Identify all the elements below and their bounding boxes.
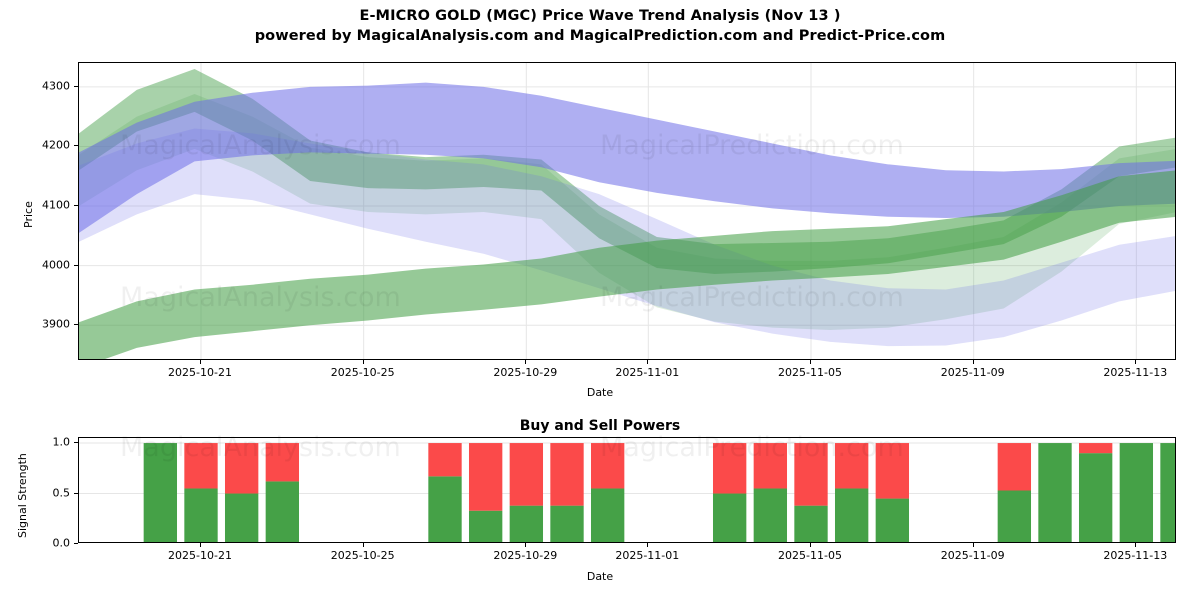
header-titles: E-MICRO GOLD (MGC) Price Wave Trend Anal…	[0, 6, 1200, 46]
y-tickmark	[74, 324, 78, 325]
y-tickmark	[74, 543, 78, 544]
price-wave-svg	[79, 63, 1176, 360]
x-tick-label: 2025-11-05	[778, 549, 842, 562]
buy-power-bar	[876, 499, 909, 543]
x-tick-label: 2025-10-29	[493, 366, 557, 379]
buy-power-bar	[1120, 443, 1153, 543]
x-tick-label: 2025-11-13	[1103, 366, 1167, 379]
y-tick-label: 4100	[36, 199, 70, 212]
sell-power-bar	[998, 443, 1031, 490]
x-tickmark	[200, 360, 201, 364]
buy-power-bar	[225, 494, 258, 543]
buy-power-bar	[998, 491, 1031, 544]
price-wave-chart-plot-area	[78, 62, 1176, 360]
buy-power-bar	[1038, 443, 1071, 543]
y-tick-label: 4000	[36, 258, 70, 271]
y-tickmark	[74, 145, 78, 146]
price-chart-xlabel: Date	[0, 386, 1200, 399]
sell-power-bar	[794, 443, 827, 506]
x-tick-label: 2025-10-21	[168, 549, 232, 562]
x-tick-label: 2025-11-01	[615, 549, 679, 562]
buy-power-bar	[550, 506, 583, 543]
x-tickmark	[363, 543, 364, 547]
buy-sell-chart-xlabel: Date	[0, 570, 1200, 583]
buy-power-bar	[144, 443, 177, 543]
x-tick-label: 2025-10-25	[331, 549, 395, 562]
x-tick-label: 2025-11-13	[1103, 549, 1167, 562]
buy-power-bar	[713, 494, 746, 543]
x-tick-label: 2025-10-21	[168, 366, 232, 379]
x-tickmark	[525, 360, 526, 364]
powered-by-subtitle: powered by MagicalAnalysis.com and Magic…	[0, 26, 1200, 46]
x-tickmark	[363, 360, 364, 364]
sell-power-bar	[835, 443, 868, 488]
x-tickmark	[973, 360, 974, 364]
buy-power-bar	[794, 506, 827, 543]
x-tick-label: 2025-10-29	[493, 549, 557, 562]
buy-sell-powers-svg	[79, 438, 1176, 543]
y-tickmark	[74, 265, 78, 266]
sell-power-bar	[876, 443, 909, 499]
sell-power-bar	[713, 443, 746, 493]
x-tick-label: 2025-11-09	[941, 366, 1005, 379]
buy-sell-powers-title: Buy and Sell Powers	[0, 418, 1200, 434]
y-tick-label: 0.0	[36, 537, 70, 550]
y-tickmark	[74, 205, 78, 206]
page-title: E-MICRO GOLD (MGC) Price Wave Trend Anal…	[0, 6, 1200, 26]
sell-power-bar	[550, 443, 583, 506]
buy-sell-powers-plot-area	[78, 437, 1176, 543]
chart-page: E-MICRO GOLD (MGC) Price Wave Trend Anal…	[0, 0, 1200, 600]
x-tickmark	[1135, 543, 1136, 547]
x-tickmark	[973, 543, 974, 547]
buy-power-bar	[184, 488, 217, 543]
sell-power-bar	[428, 443, 461, 476]
sell-power-bar	[510, 443, 543, 506]
x-tickmark	[1135, 360, 1136, 364]
y-tick-label: 4200	[36, 139, 70, 152]
sell-power-bar	[184, 443, 217, 488]
buy-power-bar	[835, 488, 868, 543]
buy-power-bar	[1079, 453, 1112, 543]
y-tickmark	[74, 86, 78, 87]
sell-power-bar	[754, 443, 787, 488]
sell-power-bar	[469, 443, 502, 511]
x-tickmark	[200, 543, 201, 547]
buy-power-bar	[754, 488, 787, 543]
y-tickmark	[74, 442, 78, 443]
buy-power-bar	[266, 481, 299, 543]
price-chart-ylabel: Price	[22, 201, 35, 228]
y-tickmark	[74, 493, 78, 494]
sell-power-bar	[1079, 443, 1112, 453]
x-tick-label: 2025-11-01	[615, 366, 679, 379]
x-tick-label: 2025-11-05	[778, 366, 842, 379]
x-tickmark	[810, 543, 811, 547]
sell-power-bar	[225, 443, 258, 493]
sell-power-bar	[266, 443, 299, 481]
y-tick-label: 3900	[36, 318, 70, 331]
x-tickmark	[525, 543, 526, 547]
x-tick-label: 2025-10-25	[331, 366, 395, 379]
x-tickmark	[647, 360, 648, 364]
buy-power-bar	[510, 506, 543, 543]
x-tickmark	[647, 543, 648, 547]
sell-power-bar	[591, 443, 624, 488]
x-tick-label: 2025-11-09	[941, 549, 1005, 562]
x-tickmark	[810, 360, 811, 364]
buy-power-bar	[469, 511, 502, 543]
buy-power-bar	[1160, 443, 1176, 543]
y-tick-label: 4300	[36, 79, 70, 92]
y-tick-label: 1.0	[36, 436, 70, 449]
buy-power-bar	[591, 488, 624, 543]
y-tick-label: 0.5	[36, 486, 70, 499]
buy-power-bar	[428, 476, 461, 543]
buy-sell-chart-ylabel: Signal Strength	[16, 453, 29, 538]
